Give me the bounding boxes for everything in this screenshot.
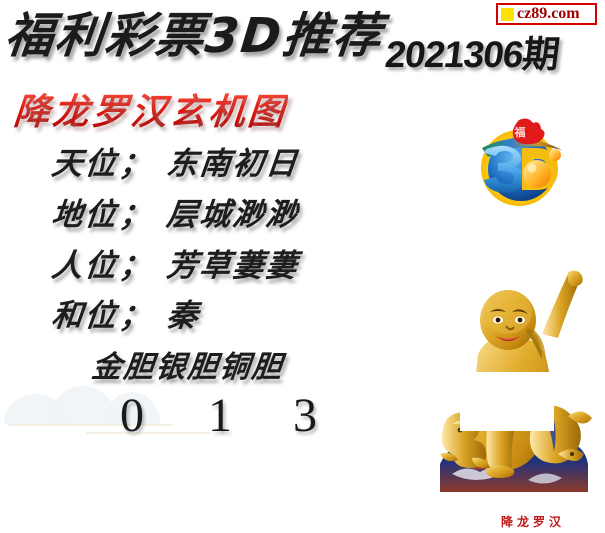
page-subtitle: 降龙罗汉玄机图 xyxy=(12,83,290,135)
watermark-horizon-2 xyxy=(86,432,211,434)
verse-text: 秦 xyxy=(165,298,202,334)
verse-row: 地位；层城渺渺 xyxy=(50,189,302,234)
verse-text: 东南初日 xyxy=(165,146,301,182)
lottery-3d-logo-icon: 福 xyxy=(466,114,572,218)
verse-label: 天位 xyxy=(50,146,120,182)
svg-text:福: 福 xyxy=(514,125,526,139)
verse-text: 层城渺渺 xyxy=(165,197,301,233)
verse-separator: ； xyxy=(118,197,155,233)
site-badge-label: cz89.com xyxy=(517,6,580,22)
recommended-number: 3 xyxy=(293,392,317,440)
dan-label-line: 金胆银胆铜胆 xyxy=(90,342,287,386)
verse-separator: ； xyxy=(118,248,155,284)
fu-emblem-icon: 福 xyxy=(513,119,545,145)
page-title: 福利彩票3D推荐 xyxy=(2,0,387,66)
verse-separator: ； xyxy=(118,146,155,182)
verse-label: 和位 xyxy=(50,298,120,334)
recommended-number: 1 xyxy=(208,392,232,440)
recommended-number: 0 xyxy=(120,392,144,440)
statue-caption: 降龙罗汉 xyxy=(473,513,593,530)
verse-label: 地位 xyxy=(50,197,120,233)
verse-row: 和位；秦 xyxy=(50,290,203,335)
verse-row: 天位；东南初日 xyxy=(50,138,302,183)
verse-text: 芳草萋萋 xyxy=(165,248,301,284)
verse-separator: ； xyxy=(118,298,155,334)
site-badge[interactable]: cz89.com xyxy=(496,3,597,25)
watermark-horizon xyxy=(8,424,173,426)
verse-label: 人位 xyxy=(50,248,120,284)
lottery-poster: cz89.com 福利彩票3D推荐 2021306期 降龙罗汉玄机图 天位；东南… xyxy=(0,0,605,533)
white-overlay-patch xyxy=(460,372,554,431)
issue-number: 2021306期 xyxy=(383,24,563,78)
verse-row: 人位；芳草萋萋 xyxy=(50,240,302,285)
badge-square-icon xyxy=(501,8,514,21)
